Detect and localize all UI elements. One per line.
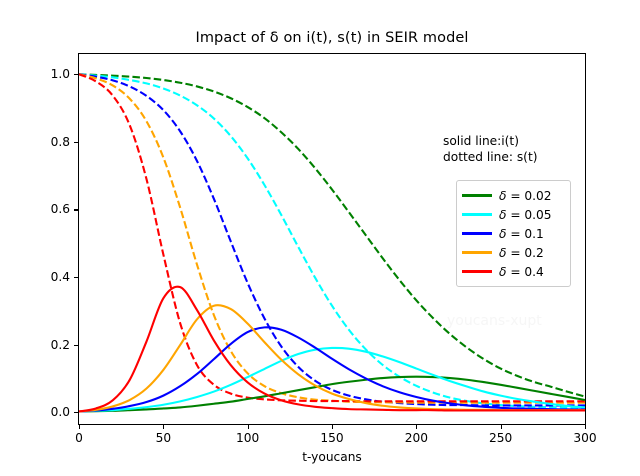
x-tick-mark xyxy=(79,425,80,429)
y-tick-mark xyxy=(74,142,78,143)
x-tick-label: 200 xyxy=(386,431,446,445)
legend-label: δ = 0.2 xyxy=(499,246,544,260)
x-tick-label: 250 xyxy=(471,431,531,445)
annotation-solid-line: solid line:i(t) xyxy=(443,134,537,150)
legend-color-swatch xyxy=(462,194,492,196)
x-tick-label: 300 xyxy=(555,431,615,445)
annotation-dotted-line: dotted line: s(t) xyxy=(443,150,537,166)
y-tick-label: 0.2 xyxy=(26,338,70,352)
x-tick-label: 100 xyxy=(218,431,278,445)
y-tick-label: 0.4 xyxy=(26,270,70,284)
y-tick-label: 0.8 xyxy=(26,135,70,149)
legend-color-swatch xyxy=(462,251,492,253)
y-tick-label: 0.6 xyxy=(26,202,70,216)
legend-label: δ = 0.1 xyxy=(499,227,544,241)
y-tick-label: 1.0 xyxy=(26,67,70,81)
y-tick-mark xyxy=(74,74,78,75)
legend-label: δ = 0.4 xyxy=(499,265,544,279)
legend-label: δ = 0.02 xyxy=(499,189,552,203)
legend-item-0[interactable]: δ = 0.02 xyxy=(462,186,564,205)
line-style-annotation: solid line:i(t) dotted line: s(t) xyxy=(443,134,537,165)
y-tick-mark xyxy=(74,277,78,278)
legend-item-3[interactable]: δ = 0.2 xyxy=(462,243,564,262)
y-tick-mark xyxy=(74,209,78,210)
x-tick-mark xyxy=(163,425,164,429)
legend-item-4[interactable]: δ = 0.4 xyxy=(462,262,564,281)
x-tick-label: 150 xyxy=(302,431,362,445)
legend-color-swatch xyxy=(462,213,492,215)
x-tick-mark xyxy=(501,425,502,429)
figure-canvas: Impact of δ on i(t), s(t) in SEIR model … xyxy=(0,0,640,476)
y-tick-mark xyxy=(74,412,78,413)
x-tick-label: 50 xyxy=(133,431,193,445)
x-tick-mark xyxy=(416,425,417,429)
x-tick-mark xyxy=(332,425,333,429)
x-tick-label: 0 xyxy=(49,431,109,445)
legend-item-1[interactable]: δ = 0.05 xyxy=(462,205,564,224)
y-tick-mark xyxy=(74,345,78,346)
legend-color-swatch xyxy=(462,270,492,272)
series-line-2-it xyxy=(79,327,585,411)
legend[interactable]: δ = 0.02δ = 0.05δ = 0.1δ = 0.2δ = 0.4 xyxy=(456,180,571,287)
x-tick-mark xyxy=(248,425,249,429)
watermark: youcans-xupt xyxy=(447,313,542,329)
x-tick-mark xyxy=(585,425,586,429)
x-axis-label: t-youcans xyxy=(78,450,586,464)
chart-title: Impact of δ on i(t), s(t) in SEIR model xyxy=(78,30,586,46)
legend-color-swatch xyxy=(462,232,492,234)
y-tick-label: 0.0 xyxy=(26,405,70,419)
legend-item-2[interactable]: δ = 0.1 xyxy=(462,224,564,243)
legend-label: δ = 0.05 xyxy=(499,208,552,222)
